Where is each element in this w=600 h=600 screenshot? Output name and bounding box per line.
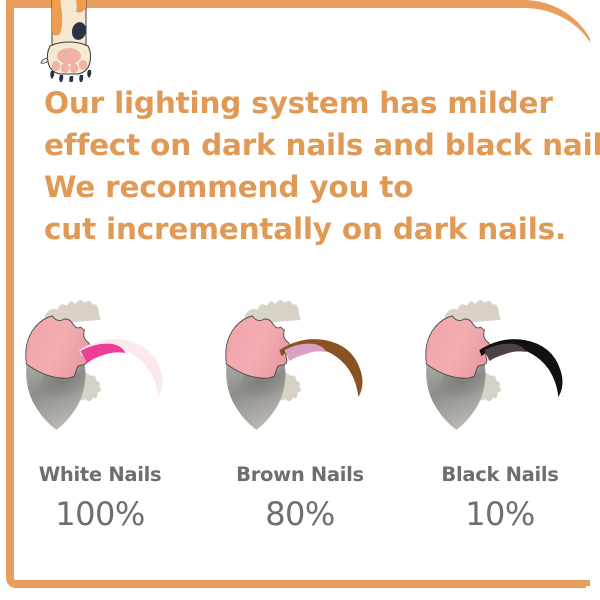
caption-black-nails: Black Nails 10% xyxy=(400,462,600,536)
caption-brown-nails: Brown Nails 80% xyxy=(200,462,400,536)
nail-illustration-white xyxy=(0,288,200,448)
percent-brown-nails: 80% xyxy=(200,492,400,536)
headline-line-4: cut incrementally on dark nails. xyxy=(44,208,554,250)
infographic-card: Our lighting system has milder effect on… xyxy=(0,0,600,600)
nail-illustration-row xyxy=(0,288,600,448)
nail-illustration-black xyxy=(400,288,600,448)
frame-bottom-right-corner xyxy=(586,586,600,600)
headline-line-3: We recommend you to xyxy=(44,166,554,208)
percent-black-nails: 10% xyxy=(400,492,600,536)
headline-line-2: effect on dark nails and black nails. xyxy=(44,124,554,166)
label-white-nails: White Nails xyxy=(0,462,200,488)
headline-text: Our lighting system has milder effect on… xyxy=(44,82,554,250)
caption-white-nails: White Nails 100% xyxy=(0,462,200,536)
label-brown-nails: Brown Nails xyxy=(200,462,400,488)
label-black-nails: Black Nails xyxy=(400,462,600,488)
cat-paw-icon xyxy=(38,0,100,82)
headline-line-1: Our lighting system has milder xyxy=(44,82,554,124)
percent-white-nails: 100% xyxy=(0,492,200,536)
nail-illustration-brown xyxy=(200,288,400,448)
nail-captions-row: White Nails 100% Brown Nails 80% Black N… xyxy=(0,462,600,536)
